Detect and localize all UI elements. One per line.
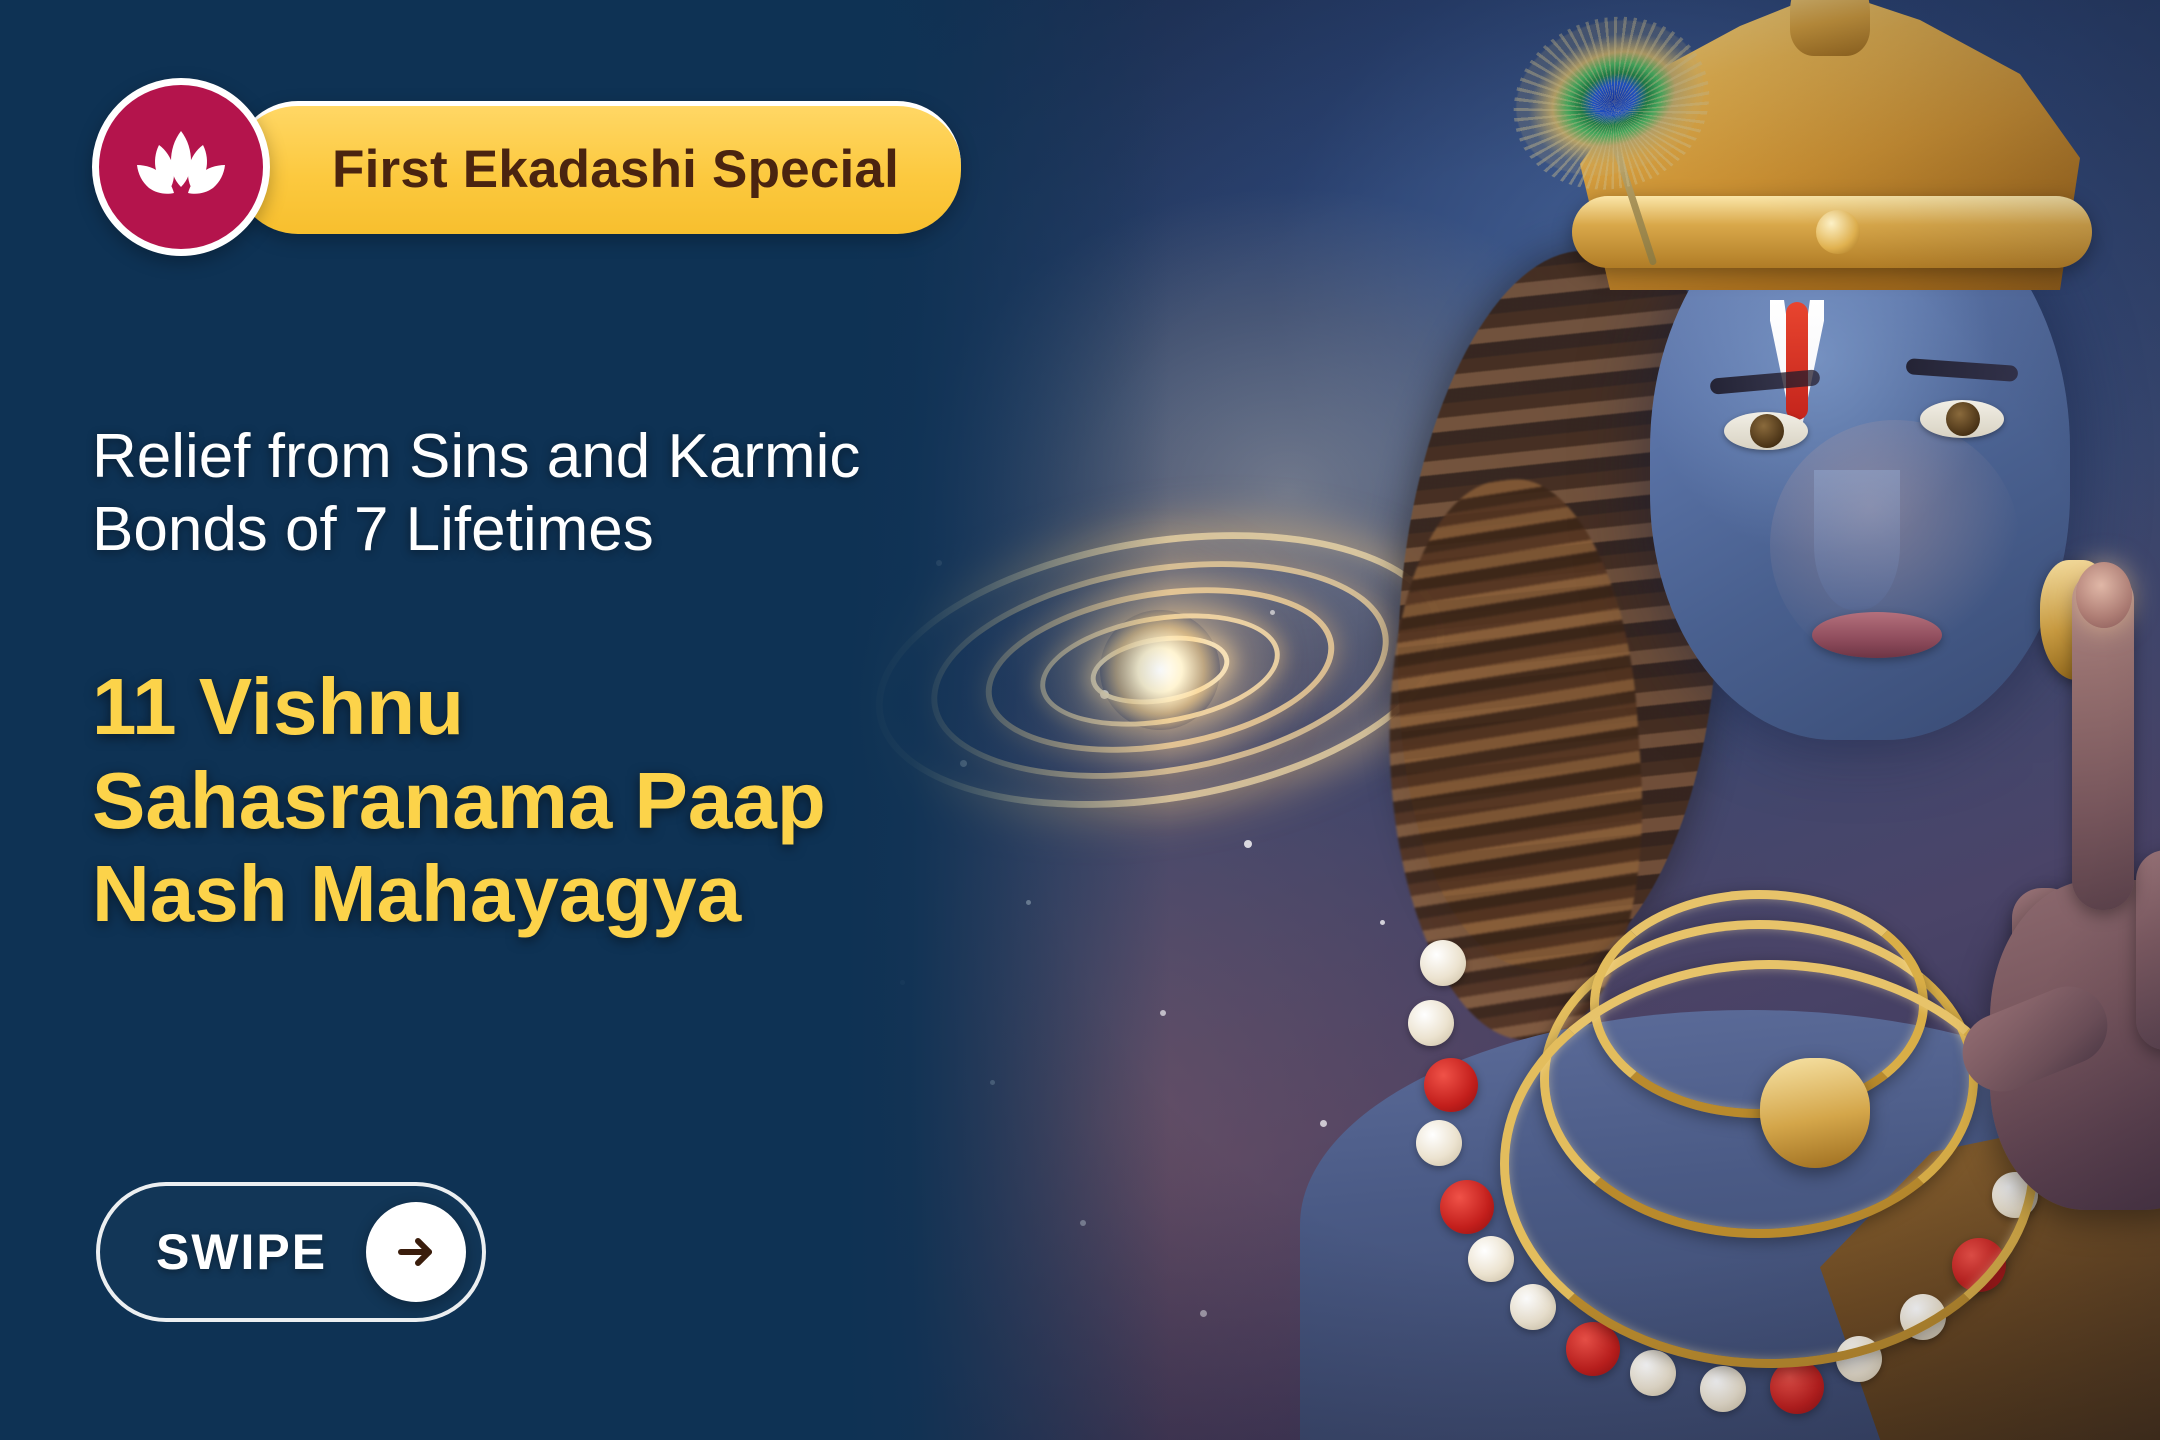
swipe-label: SWIPE	[156, 1223, 327, 1281]
brand-logo	[92, 78, 270, 256]
headline-line-2: Sahasranama Paap	[92, 754, 1102, 848]
badge-label: First Ekadashi Special	[332, 139, 899, 200]
subheading-line-1: Relief from Sins and Karmic	[92, 420, 1092, 493]
headline-line-1: 11 Vishnu	[92, 660, 1102, 754]
subheading-line-2: Bonds of 7 Lifetimes	[92, 493, 1092, 566]
badge-pill: First Ekadashi Special	[234, 101, 961, 234]
banner-content: First Ekadashi Special Relief from Sins …	[0, 0, 1180, 1440]
arrow-right-icon	[390, 1226, 442, 1278]
swipe-arrow-circle[interactable]	[366, 1202, 466, 1302]
lotus-icon	[129, 125, 233, 209]
headline: 11 Vishnu Sahasranama Paap Nash Mahayagy…	[92, 660, 1102, 941]
subheading: Relief from Sins and Karmic Bonds of 7 L…	[92, 420, 1092, 566]
swipe-button[interactable]: SWIPE	[96, 1182, 486, 1322]
badge-row: First Ekadashi Special	[92, 78, 961, 256]
ekadashi-promo-banner: ©2024 all rights reserved First Ekadashi…	[0, 0, 2160, 1440]
headline-line-3: Nash Mahayagya	[92, 847, 1102, 941]
